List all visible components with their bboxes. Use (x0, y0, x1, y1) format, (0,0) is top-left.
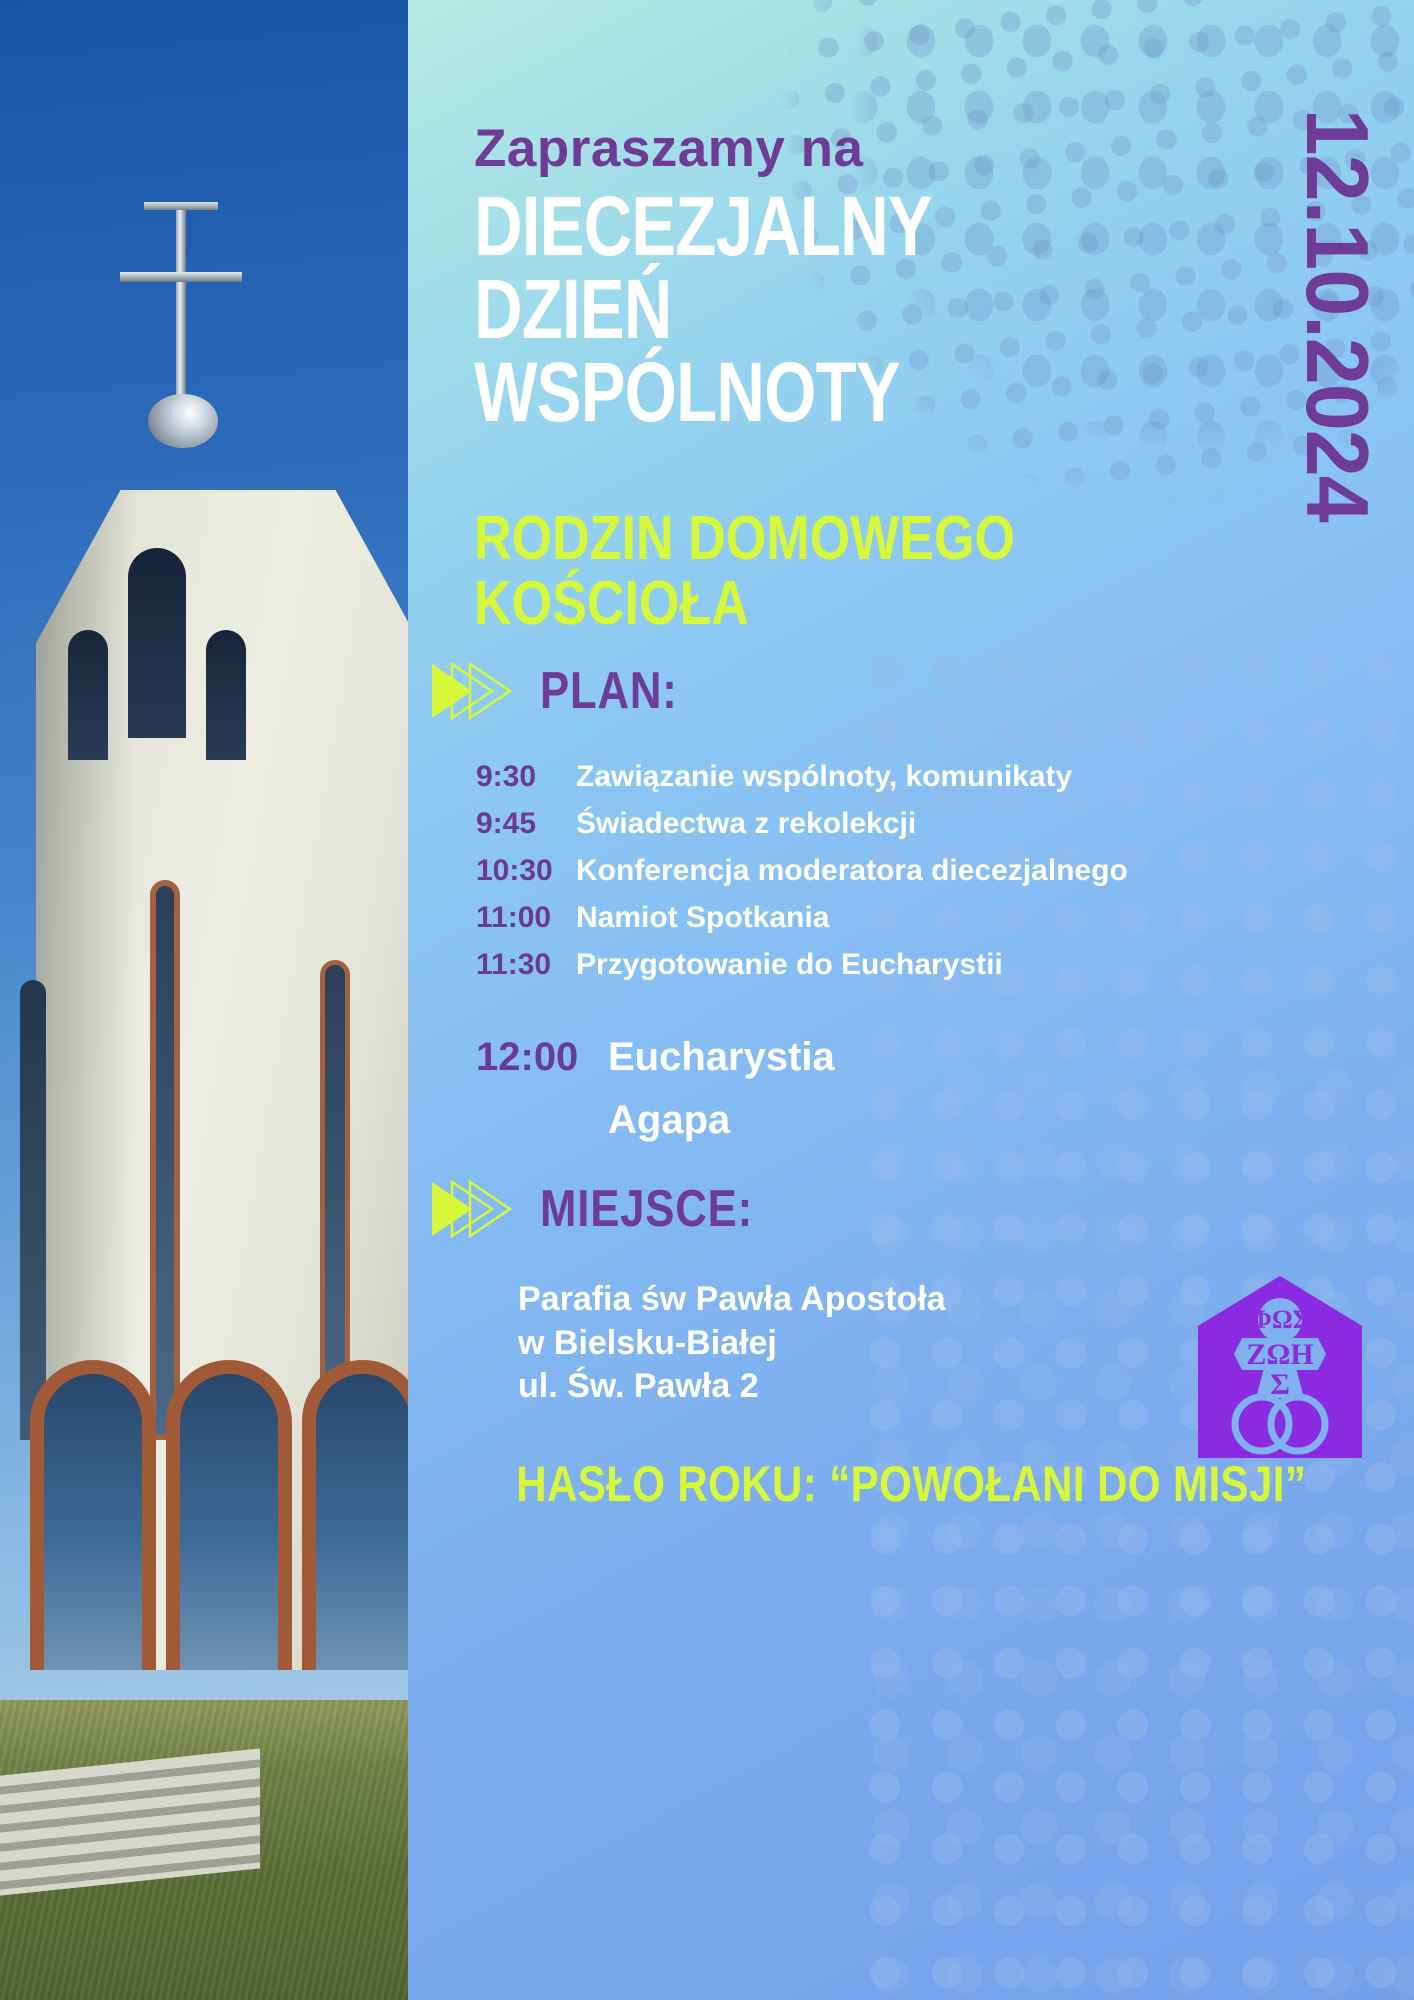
highlight-schedule-list: 12:00 Eucharystia Agapa (476, 1035, 1206, 1161)
gable-arch-left (68, 630, 108, 760)
cross-orb (148, 394, 218, 448)
schedule-desc: Świadectwa z rekolekcji (576, 807, 916, 841)
triple-arrow-icon (428, 1178, 514, 1240)
highlight-desc: Agapa (608, 1098, 730, 1143)
schedule-time: 11:00 (476, 901, 576, 935)
schedule-time: 9:45 (476, 807, 576, 841)
address-line-2: w Bielsku-Białej (518, 1322, 946, 1366)
content-panel: Zapraszamy na DIECEZJALNY DZIEŃ WSPÓLNOT… (408, 0, 1414, 2000)
schedule-row: 9:45 Świadectwa z rekolekcji (476, 807, 1206, 841)
year-motto: HASŁO ROKU: “POWOŁANI DO MISJI” (408, 1455, 1414, 1513)
title-line-3: WSPÓLNOTY (474, 351, 986, 434)
highlight-time: 12:00 (476, 1035, 608, 1080)
venue-address: Parafia św Pawła Apostoła w Bielsku-Biał… (518, 1278, 946, 1409)
entrance-arch-1 (30, 1360, 156, 1670)
page-subtitle: RODZIN DOMOWEGO KOŚCIOŁA (474, 506, 1062, 636)
svg-text:ΖΩΗ: ΖΩΗ (1246, 1338, 1313, 1371)
schedule-row: 11:30 Przygotowanie do Eucharystii (476, 948, 1206, 982)
church-photo (0, 0, 408, 2000)
schedule-row: 10:30 Konferencja moderatora diecezjalne… (476, 854, 1206, 888)
address-line-1: Parafia św Pawła Apostoła (518, 1278, 946, 1322)
place-heading-label: MIEJSCE: (540, 1179, 753, 1239)
schedule-row: 9:30 Zawiązanie wspólnoty, komunikaty (476, 760, 1206, 794)
tall-window-left (20, 980, 46, 1440)
highlight-row: Agapa (476, 1098, 1206, 1143)
dot-grid-decoration-lower (854, 1050, 1414, 2000)
schedule-time: 11:30 (476, 948, 576, 982)
highlight-row: 12:00 Eucharystia (476, 1035, 1206, 1080)
address-line-3: ul. Św. Pawła 2 (518, 1365, 946, 1409)
svg-text:ΦΩΣ: ΦΩΣ (1250, 1305, 1309, 1334)
title-line-2: DZIEŃ (474, 268, 986, 351)
church-cross-icon (176, 210, 186, 400)
schedule-desc: Zawiązanie wspólnoty, komunikaty (576, 760, 1072, 794)
schedule-row: 11:00 Namiot Spotkania (476, 901, 1206, 935)
subtitle-line-1: RODZIN DOMOWEGO (474, 506, 1062, 571)
event-date: 12.10.2024 (1286, 109, 1388, 522)
triple-arrow-icon (428, 660, 514, 722)
schedule-desc: Namiot Spotkania (576, 901, 829, 935)
entrance-arch-2 (166, 1360, 292, 1670)
plan-heading-label: PLAN: (540, 661, 678, 721)
domestic-church-logo: ΦΩΣ ΖΩΗ Σ (1194, 1272, 1366, 1462)
gable-arch-center (128, 548, 186, 738)
subtitle-line-2: KOŚCIOŁA (474, 571, 1062, 636)
entrance-arch-3 (302, 1360, 408, 1670)
plan-section-heading: PLAN: (428, 660, 704, 722)
year-motto-text: HASŁO ROKU: “POWOŁANI DO MISJI” (516, 1455, 1306, 1513)
schedule-time: 10:30 (476, 854, 576, 888)
tall-window-center (150, 880, 180, 1440)
poster-root: Zapraszamy na DIECEZJALNY DZIEŃ WSPÓLNOT… (0, 0, 1414, 2000)
schedule-desc: Konferencja moderatora diecezjalnego (576, 854, 1128, 888)
title-line-1: DIECEZJALNY (474, 185, 986, 268)
place-section-heading: MIEJSCE: (428, 1178, 794, 1240)
gable-arch-right (206, 630, 246, 760)
schedule-time: 9:30 (476, 760, 576, 794)
schedule-desc: Przygotowanie do Eucharystii (576, 948, 1003, 982)
schedule-list: 9:30 Zawiązanie wspólnoty, komunikaty 9:… (476, 760, 1206, 995)
invite-line: Zapraszamy na (474, 118, 863, 179)
page-title: DIECEZJALNY DZIEŃ WSPÓLNOTY (474, 185, 986, 434)
highlight-desc: Eucharystia (608, 1035, 835, 1080)
